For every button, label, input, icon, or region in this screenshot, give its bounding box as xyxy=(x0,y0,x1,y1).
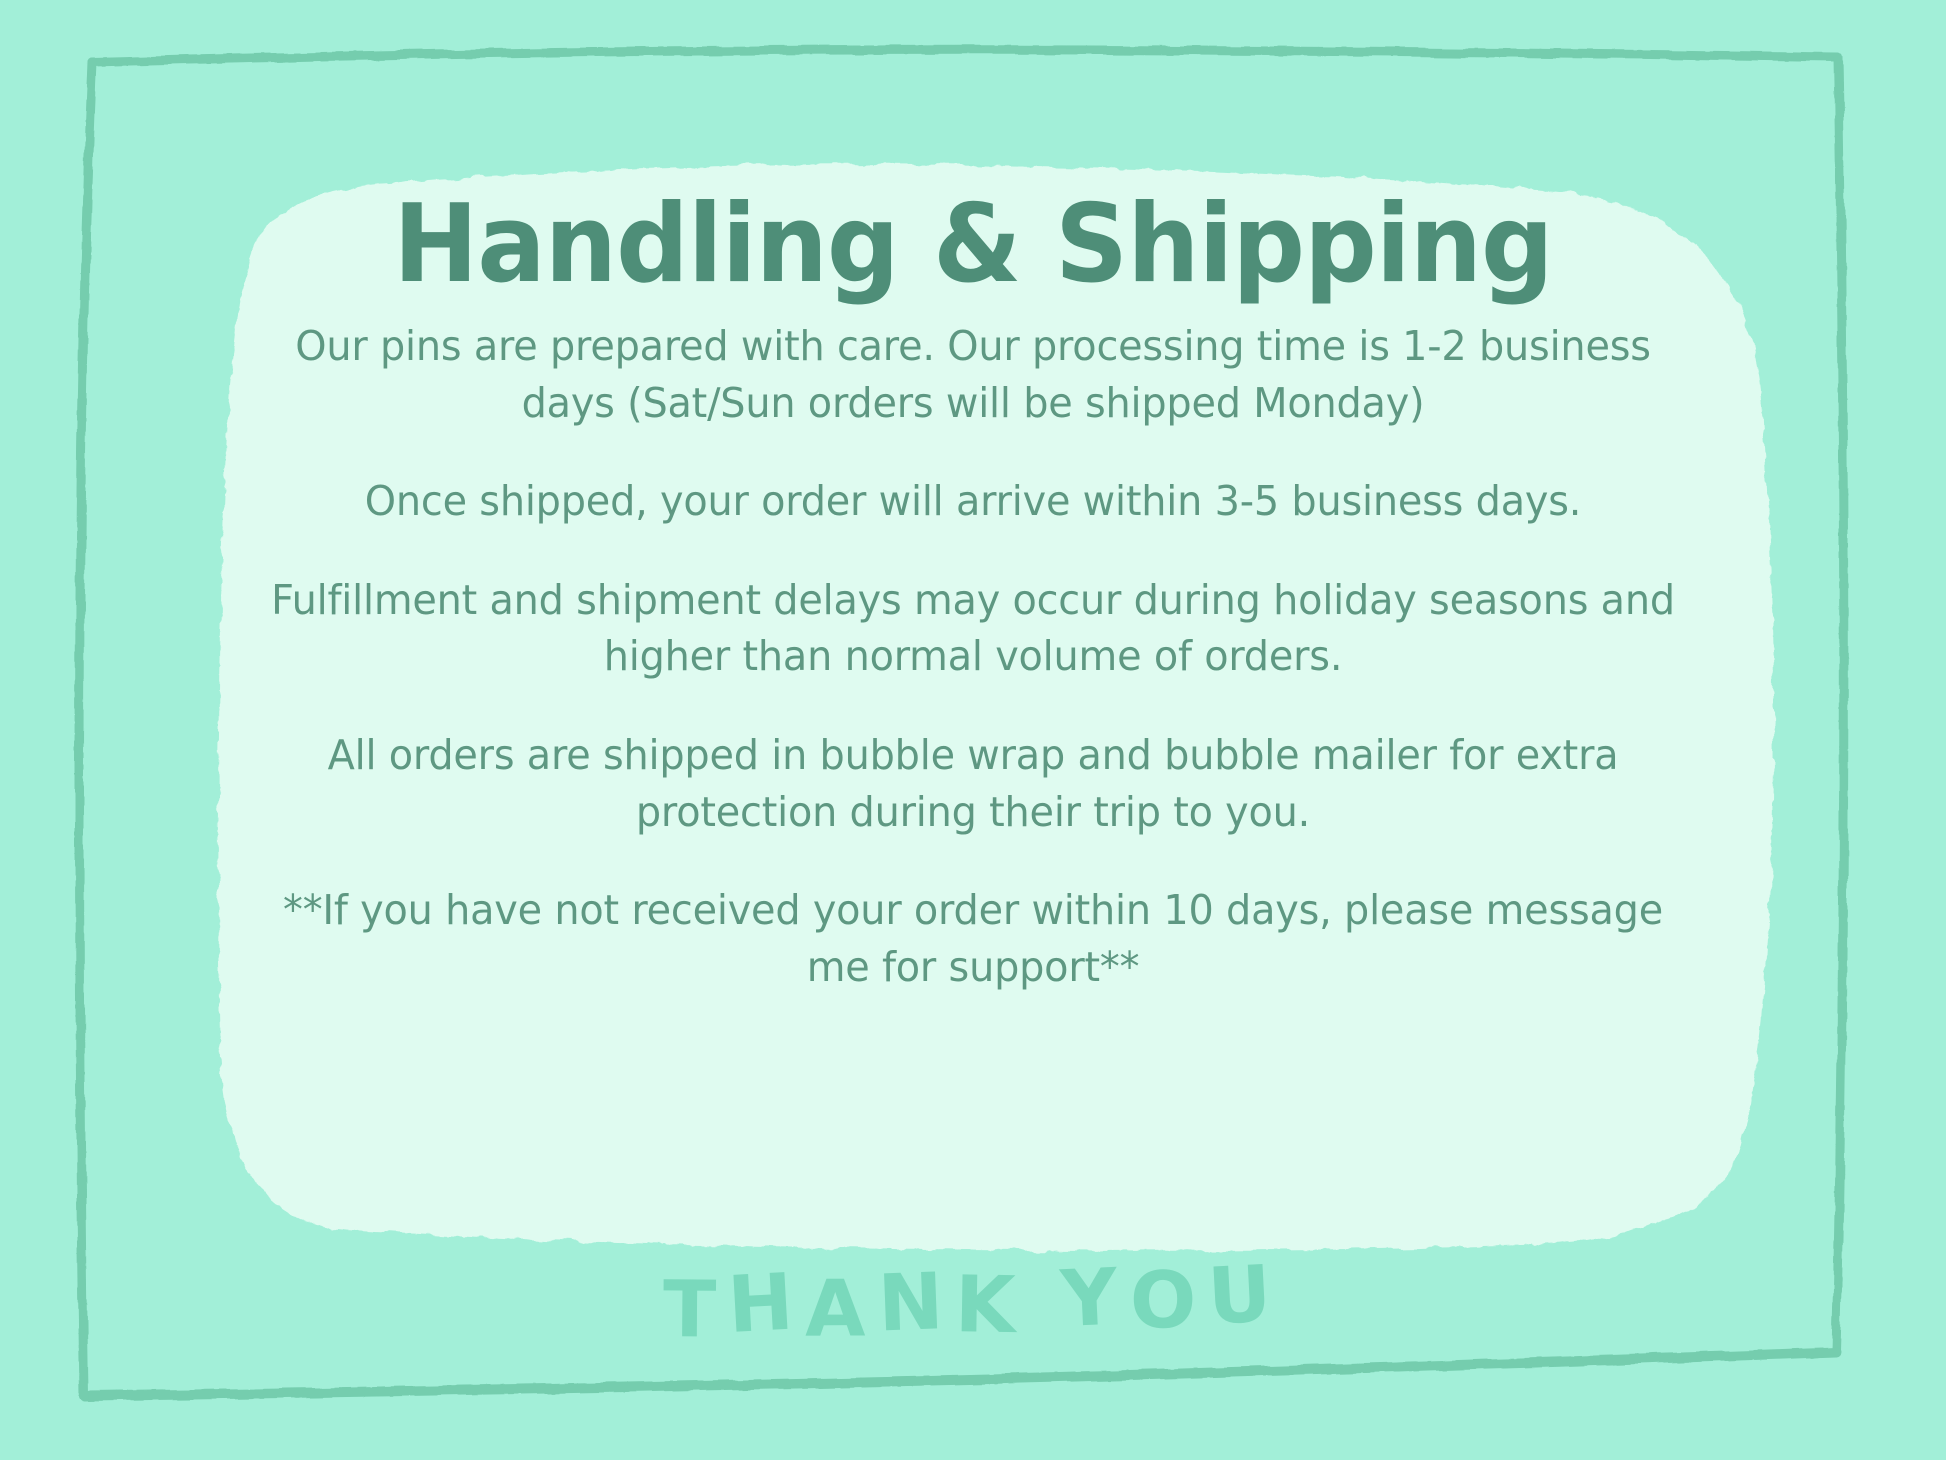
thankyou-space xyxy=(1026,1256,1062,1347)
paragraph-packaging: All orders are shipped in bubble wrap an… xyxy=(270,727,1677,840)
thankyou-letter: Y xyxy=(1059,1252,1131,1345)
card-content: Handling & Shipping Our pins are prepare… xyxy=(238,170,1708,990)
paragraph-support-note: **If you have not received your order wi… xyxy=(270,882,1677,995)
body-text: Our pins are prepared with care. Our pro… xyxy=(260,318,1686,995)
paragraph-holiday-delays: Fulfillment and shipment delays may occu… xyxy=(270,572,1677,685)
thankyou-letter: N xyxy=(876,1257,957,1350)
page-title: Handling & Shipping xyxy=(282,170,1664,300)
paragraph-processing-time: Our pins are prepared with care. Our pro… xyxy=(270,318,1677,431)
thankyou-letter: K xyxy=(954,1260,1028,1351)
thankyou-letter: A xyxy=(805,1264,878,1354)
thankyou-letter: T xyxy=(662,1265,728,1355)
poster-canvas: Handling & Shipping Our pins are prepare… xyxy=(0,0,1946,1460)
thankyou-letter: H xyxy=(725,1257,807,1351)
thankyou-letter: O xyxy=(1130,1256,1208,1346)
thankyou-letter: U xyxy=(1206,1249,1286,1343)
paragraph-delivery-time: Once shipped, your order will arrive wit… xyxy=(270,473,1677,530)
